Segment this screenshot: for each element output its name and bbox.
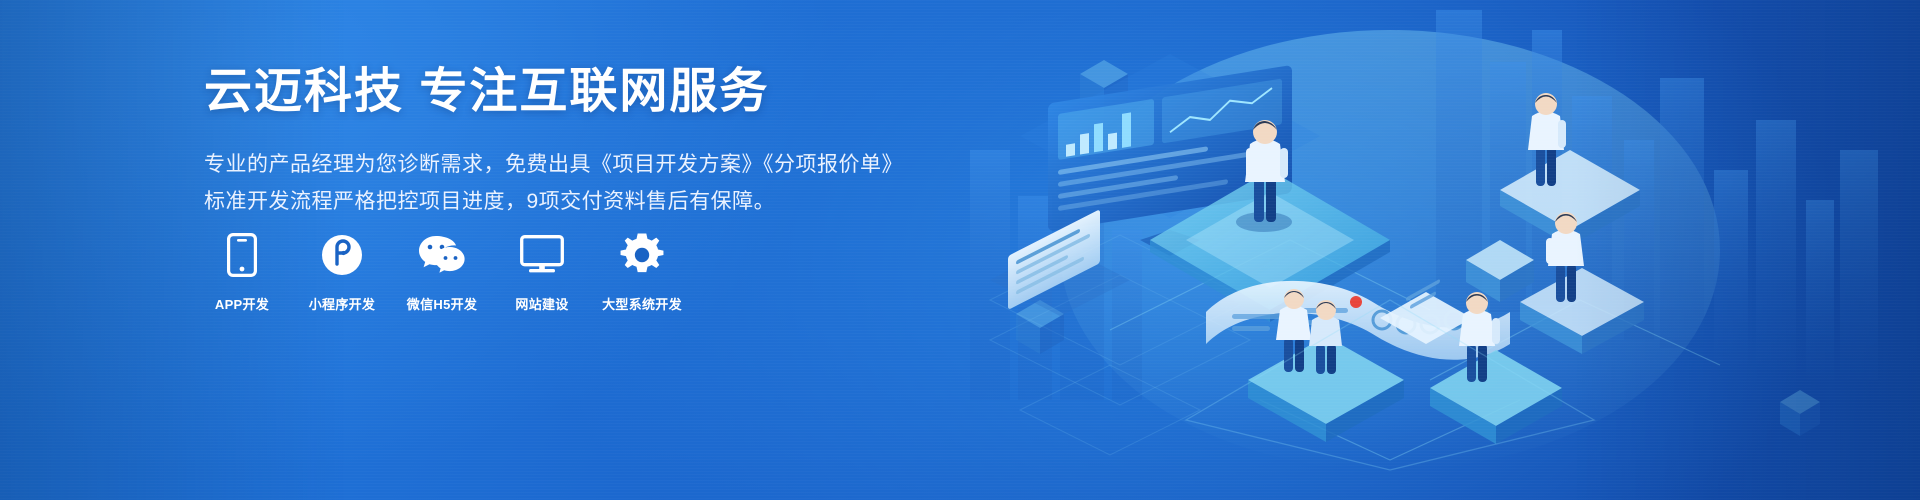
page-title: 云迈科技 专注互联网服务 xyxy=(204,64,944,121)
service-label: 网站建设 xyxy=(515,294,568,313)
monitor-icon xyxy=(520,232,564,278)
mobile-phone-icon xyxy=(227,232,257,278)
subtitle-line-2: 标准开发流程严格把控项目进度，9项交付资料售后有保障。 xyxy=(204,184,944,219)
service-label: 微信H5开发 xyxy=(407,294,477,313)
service-item-wechat-h5[interactable]: 微信H5开发 xyxy=(404,232,480,313)
banner-copy: 云迈科技 专注互联网服务 专业的产品经理为您诊断需求，免费出具《项目开发方案》《… xyxy=(204,64,944,219)
service-label: 小程序开发 xyxy=(309,294,376,313)
service-item-app[interactable]: APP开发 xyxy=(204,232,280,313)
service-item-website[interactable]: 网站建设 xyxy=(504,232,580,313)
subtitle-line-1: 专业的产品经理为您诊断需求，免费出具《项目开发方案》《分项报价单》 xyxy=(204,147,944,182)
service-item-large-system[interactable]: 大型系统开发 xyxy=(604,232,680,313)
service-list: APP开发 小程序开发 xyxy=(204,232,680,313)
hero-banner: 云迈科技 专注互联网服务 专业的产品经理为您诊断需求，免费出具《项目开发方案》《… xyxy=(0,0,1920,500)
service-label: APP开发 xyxy=(215,294,269,313)
gear-icon xyxy=(620,232,664,278)
mini-program-icon xyxy=(320,232,364,278)
service-item-mini-program[interactable]: 小程序开发 xyxy=(304,232,380,313)
illustration xyxy=(960,0,1920,500)
service-label: 大型系统开发 xyxy=(602,294,682,313)
wechat-icon xyxy=(418,232,466,278)
